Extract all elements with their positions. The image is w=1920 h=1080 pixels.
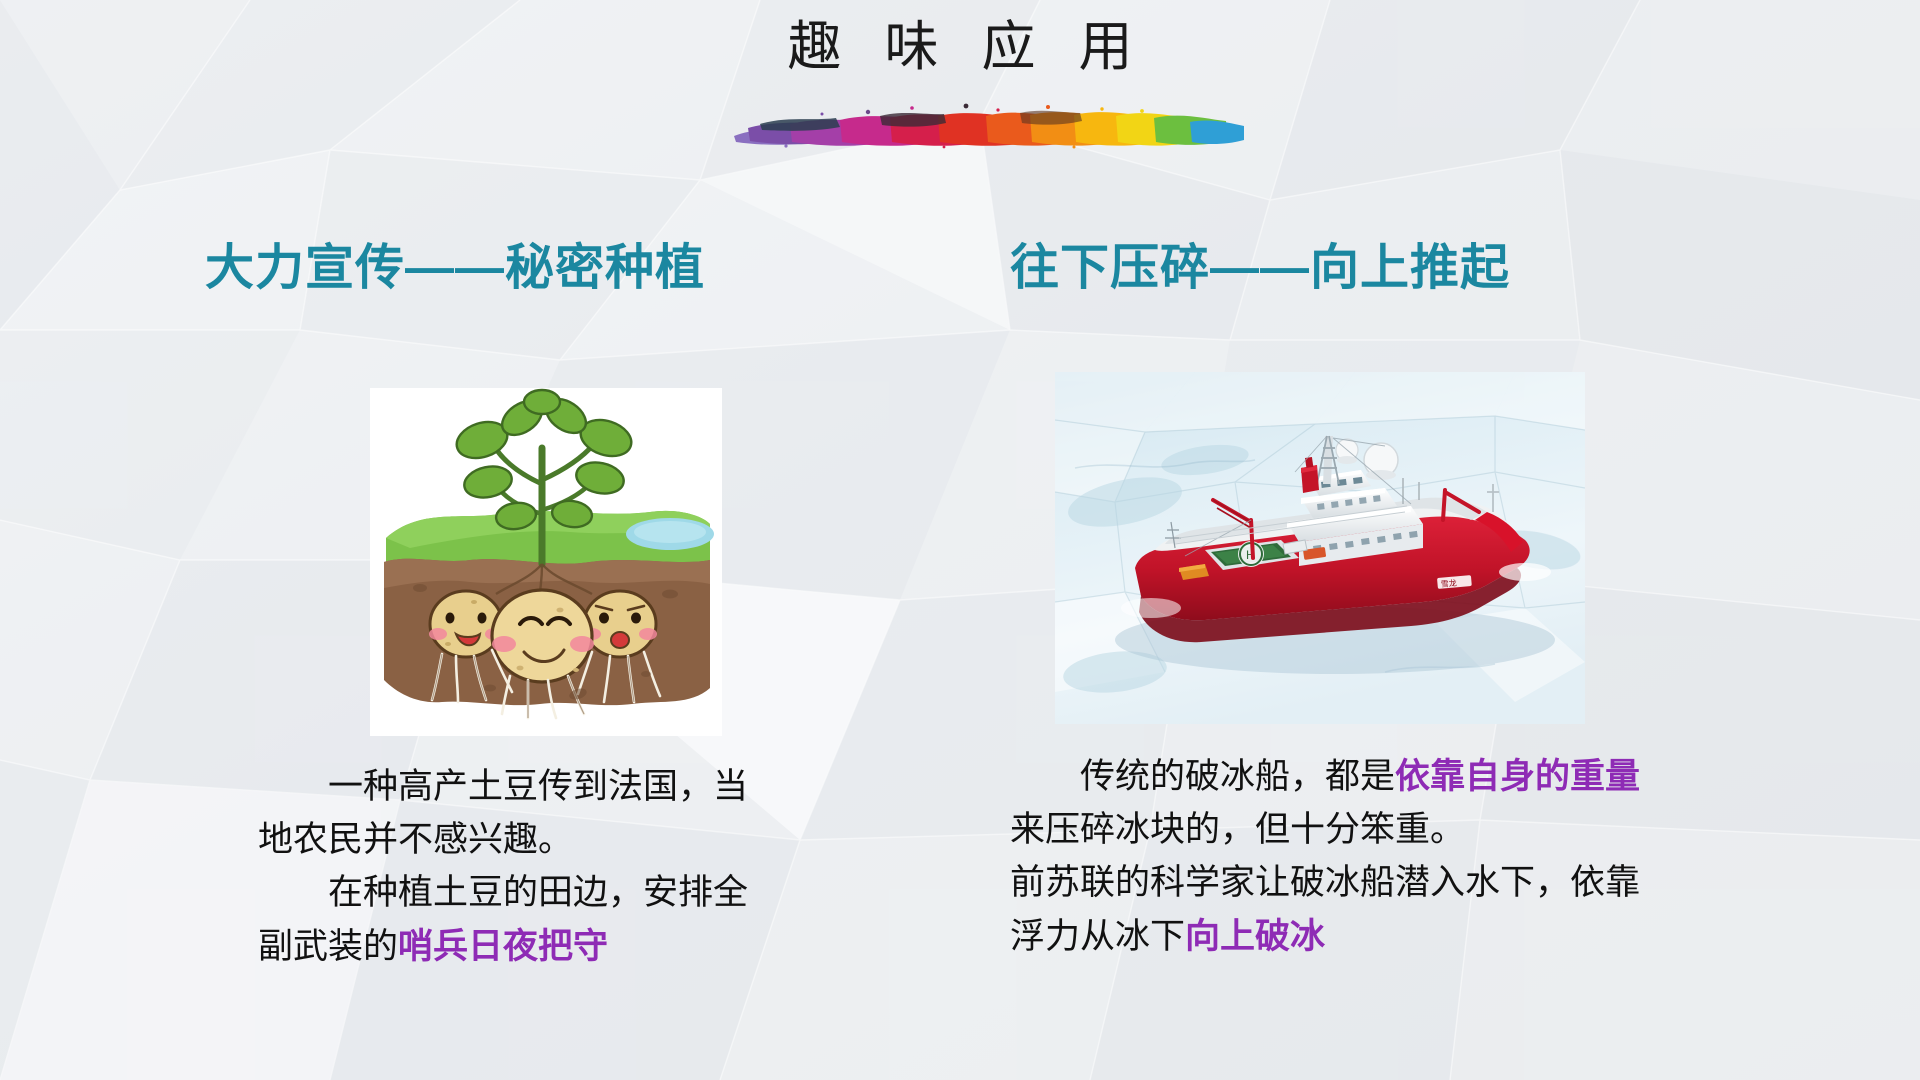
page-title: 趣 味 应 用 [773,18,1146,77]
paragraph: 前苏联的科学家让破冰船潜入水下，依靠浮力从冰下向上破冰 [1010,856,1670,962]
icebreaker-ship-photo: 雪龙 H [1055,372,1585,724]
highlighted-phrase: 向上破冰 [1185,917,1325,956]
slide-title-container: 趣 味 应 用 [0,18,1920,77]
svg-text:雪龙: 雪龙 [1440,578,1457,589]
paragraph: 传统的破冰船，都是依靠自身的重量来压碎冰块的，但十分笨重。 [1010,750,1670,856]
text-run: 传统的破冰船，都是 [1080,757,1395,796]
text-run: 一种高产土豆传到法国，当地农民并不感兴趣。 [258,767,748,859]
body-text-right: 传统的破冰船，都是依靠自身的重量来压碎冰块的，但十分笨重。前苏联的科学家让破冰船… [1010,750,1670,963]
paragraph: 在种植土豆的田边，安排全副武装的哨兵日夜把守 [258,866,778,972]
body-text-left: 一种高产土豆传到法国，当地农民并不感兴趣。在种植土豆的田边，安排全副武装的哨兵日… [258,760,778,973]
cartoon-potato-plant-illustration [370,388,722,736]
paragraph: 一种高产土豆传到法国，当地农民并不感兴趣。 [258,760,778,866]
text-run: 来压碎冰块的，但十分笨重。 [1010,810,1465,849]
column-heading-right: 往下压碎——向上推起 [1010,228,1510,299]
highlighted-phrase: 哨兵日夜把守 [398,927,608,966]
column-heading-left: 大力宣传——秘密种植 [205,228,705,299]
highlighted-phrase: 依靠自身的重量 [1395,757,1640,796]
watercolor-brush-divider [730,96,1250,150]
